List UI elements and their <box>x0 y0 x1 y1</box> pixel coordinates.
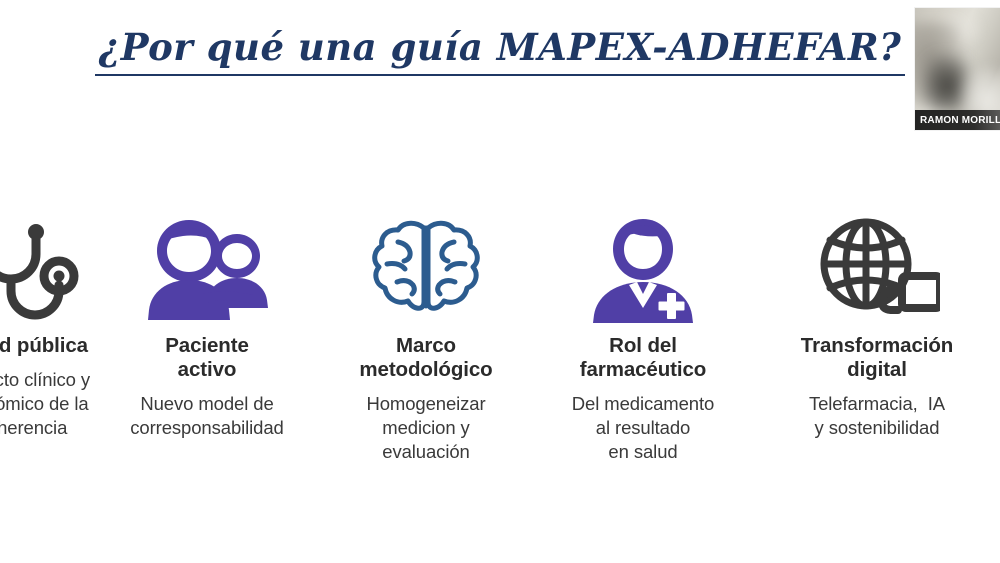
participant-name-label: RAMON MORILLO <box>915 115 1000 126</box>
pillar-body: Telefarmacia, IA y sostenibilidad <box>809 392 945 440</box>
pillars-row: Salud pública Impacto clínico y económic… <box>0 214 1000 465</box>
video-participant-tile[interactable]: RAMON MORILLO <box>915 8 1000 130</box>
stethoscope-icon <box>0 214 80 326</box>
pillar-body: Impacto clínico y económico de la adhere… <box>0 368 90 440</box>
pillar-heading: Rol del farmacéutico <box>580 334 706 382</box>
pharmacist-icon <box>583 214 703 326</box>
pillar-rol-farmaceutico: Rol del farmacéutico Del medicamento al … <box>532 214 754 465</box>
globe-screen-icon <box>814 214 940 326</box>
pillar-heading: Paciente activo <box>165 334 249 382</box>
pillar-body: Nuevo model de corresponsabilidad <box>130 392 284 440</box>
two-people-icon <box>141 214 273 326</box>
slide-title-container: ¿Por qué una guía MAPEX-ADHEFAR? <box>0 26 1000 76</box>
page-title: ¿Por qué una guía MAPEX-ADHEFAR? <box>95 26 906 76</box>
pillar-heading: Transformación digital <box>801 334 953 382</box>
pillar-paciente-activo: Paciente activo Nuevo model de correspon… <box>94 214 320 440</box>
pillar-heading: Marco metodológico <box>359 334 492 382</box>
pillar-body: Homogeneizar medicion y evaluación <box>366 392 485 464</box>
pillar-heading: Salud pública <box>0 334 88 358</box>
video-name-bar: RAMON MORILLO <box>915 110 1000 130</box>
pillar-transformacion-digital: Transformación digital Telefarmacia, IA … <box>754 214 1000 440</box>
presentation-slide: ¿Por qué una guía MAPEX-ADHEFAR? RAMON M… <box>0 0 1000 563</box>
pillar-marco-metodologico: Marco metodológico Homogeneizar medicion… <box>320 214 532 465</box>
pillar-body: Del medicamento al resultado en salud <box>572 392 714 464</box>
brain-icon <box>367 214 485 326</box>
pillar-salud-publica: Salud pública Impacto clínico y económic… <box>0 214 94 440</box>
